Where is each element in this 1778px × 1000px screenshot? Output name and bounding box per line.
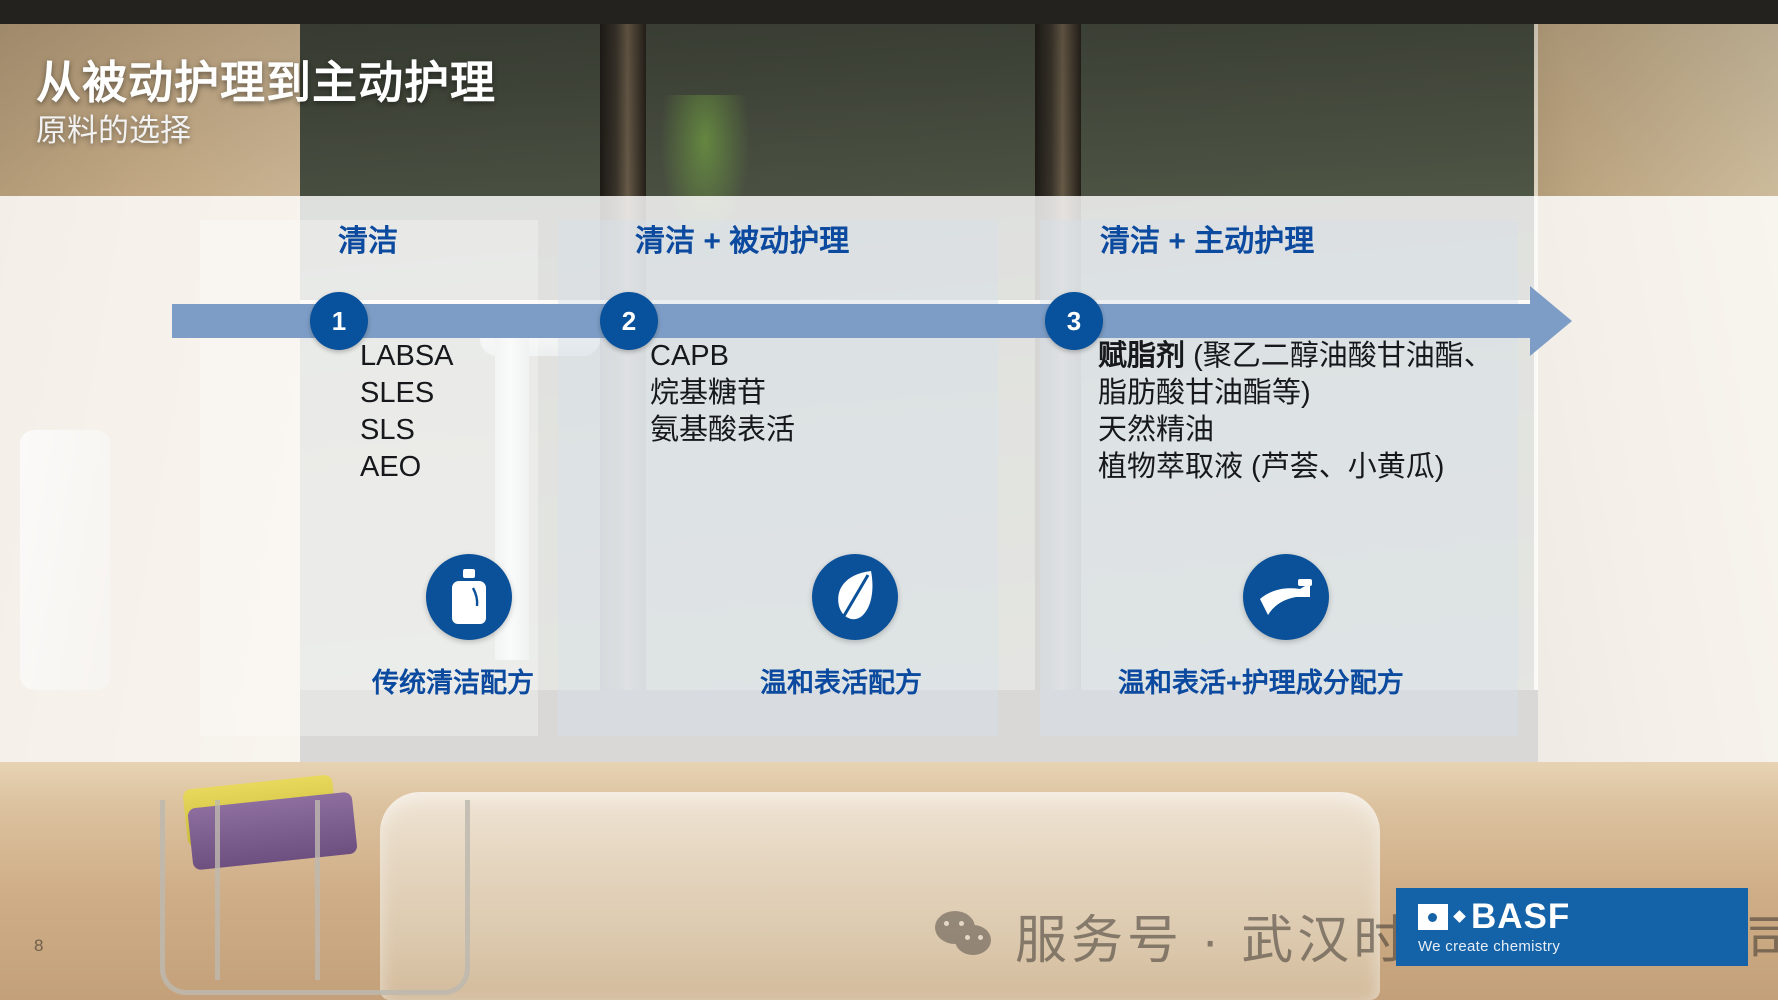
progress-arrow-group: 清洁 清洁 + 被动护理 清洁 + 主动护理 1 2 3 LABSA SLES … (0, 196, 1778, 762)
arrow-bar (172, 304, 1544, 338)
wechat-icon (935, 911, 997, 961)
basf-diamond-icon (1453, 910, 1466, 923)
hand-care-icon[interactable] (1243, 554, 1329, 640)
detergent-bottle-icon[interactable] (426, 554, 512, 640)
leaf-glyph (831, 568, 879, 626)
logo-mark: BASF (1418, 899, 1748, 934)
ingredient-list-3: 赋脂剂 (聚乙二醇油酸甘油酯、脂肪酸甘油酯等) 天然精油 植物萃取液 (芦荟、小… (1098, 338, 1518, 486)
column-caption-3: 温和表活+护理成分配方 (1118, 661, 1404, 700)
column-heading-3: 清洁 + 主动护理 (1100, 216, 1314, 260)
page-number: 8 (34, 936, 43, 956)
detergent-bottle-glyph (447, 569, 491, 625)
column-caption-1: 传统清洁配方 (372, 661, 534, 700)
photo-dish-rack (160, 800, 470, 995)
hand-care-glyph (1258, 575, 1314, 619)
page-title: 从被动护理到主动护理 (36, 58, 496, 108)
basf-square-icon (1418, 904, 1448, 930)
step-circle-3[interactable]: 3 (1045, 292, 1103, 350)
leaf-icon[interactable] (812, 554, 898, 640)
column-heading-1: 清洁 (338, 216, 398, 260)
ingredient-emphasis: 赋脂剂 (1098, 340, 1185, 372)
logo-wordmark: BASF (1471, 899, 1570, 934)
logo-tagline: We create chemistry (1418, 938, 1748, 955)
column-heading-2: 清洁 + 被动护理 (635, 216, 849, 260)
column-caption-2: 温和表活配方 (760, 661, 922, 700)
basf-logo: BASF We create chemistry (1396, 888, 1748, 966)
ingredient-list-2: CAPB 烷基糖苷 氨基酸表活 (650, 338, 795, 449)
slide: 从被动护理到主动护理 原料的选择 清洁 清洁 + 被动护理 清洁 + 主动护理 … (0, 0, 1778, 1000)
arrow-head-icon (1530, 286, 1572, 356)
ingredient-list-1: LABSA SLES SLS AEO (360, 338, 454, 486)
title-block: 从被动护理到主动护理 原料的选择 (36, 58, 496, 150)
page-subtitle: 原料的选择 (36, 112, 496, 149)
